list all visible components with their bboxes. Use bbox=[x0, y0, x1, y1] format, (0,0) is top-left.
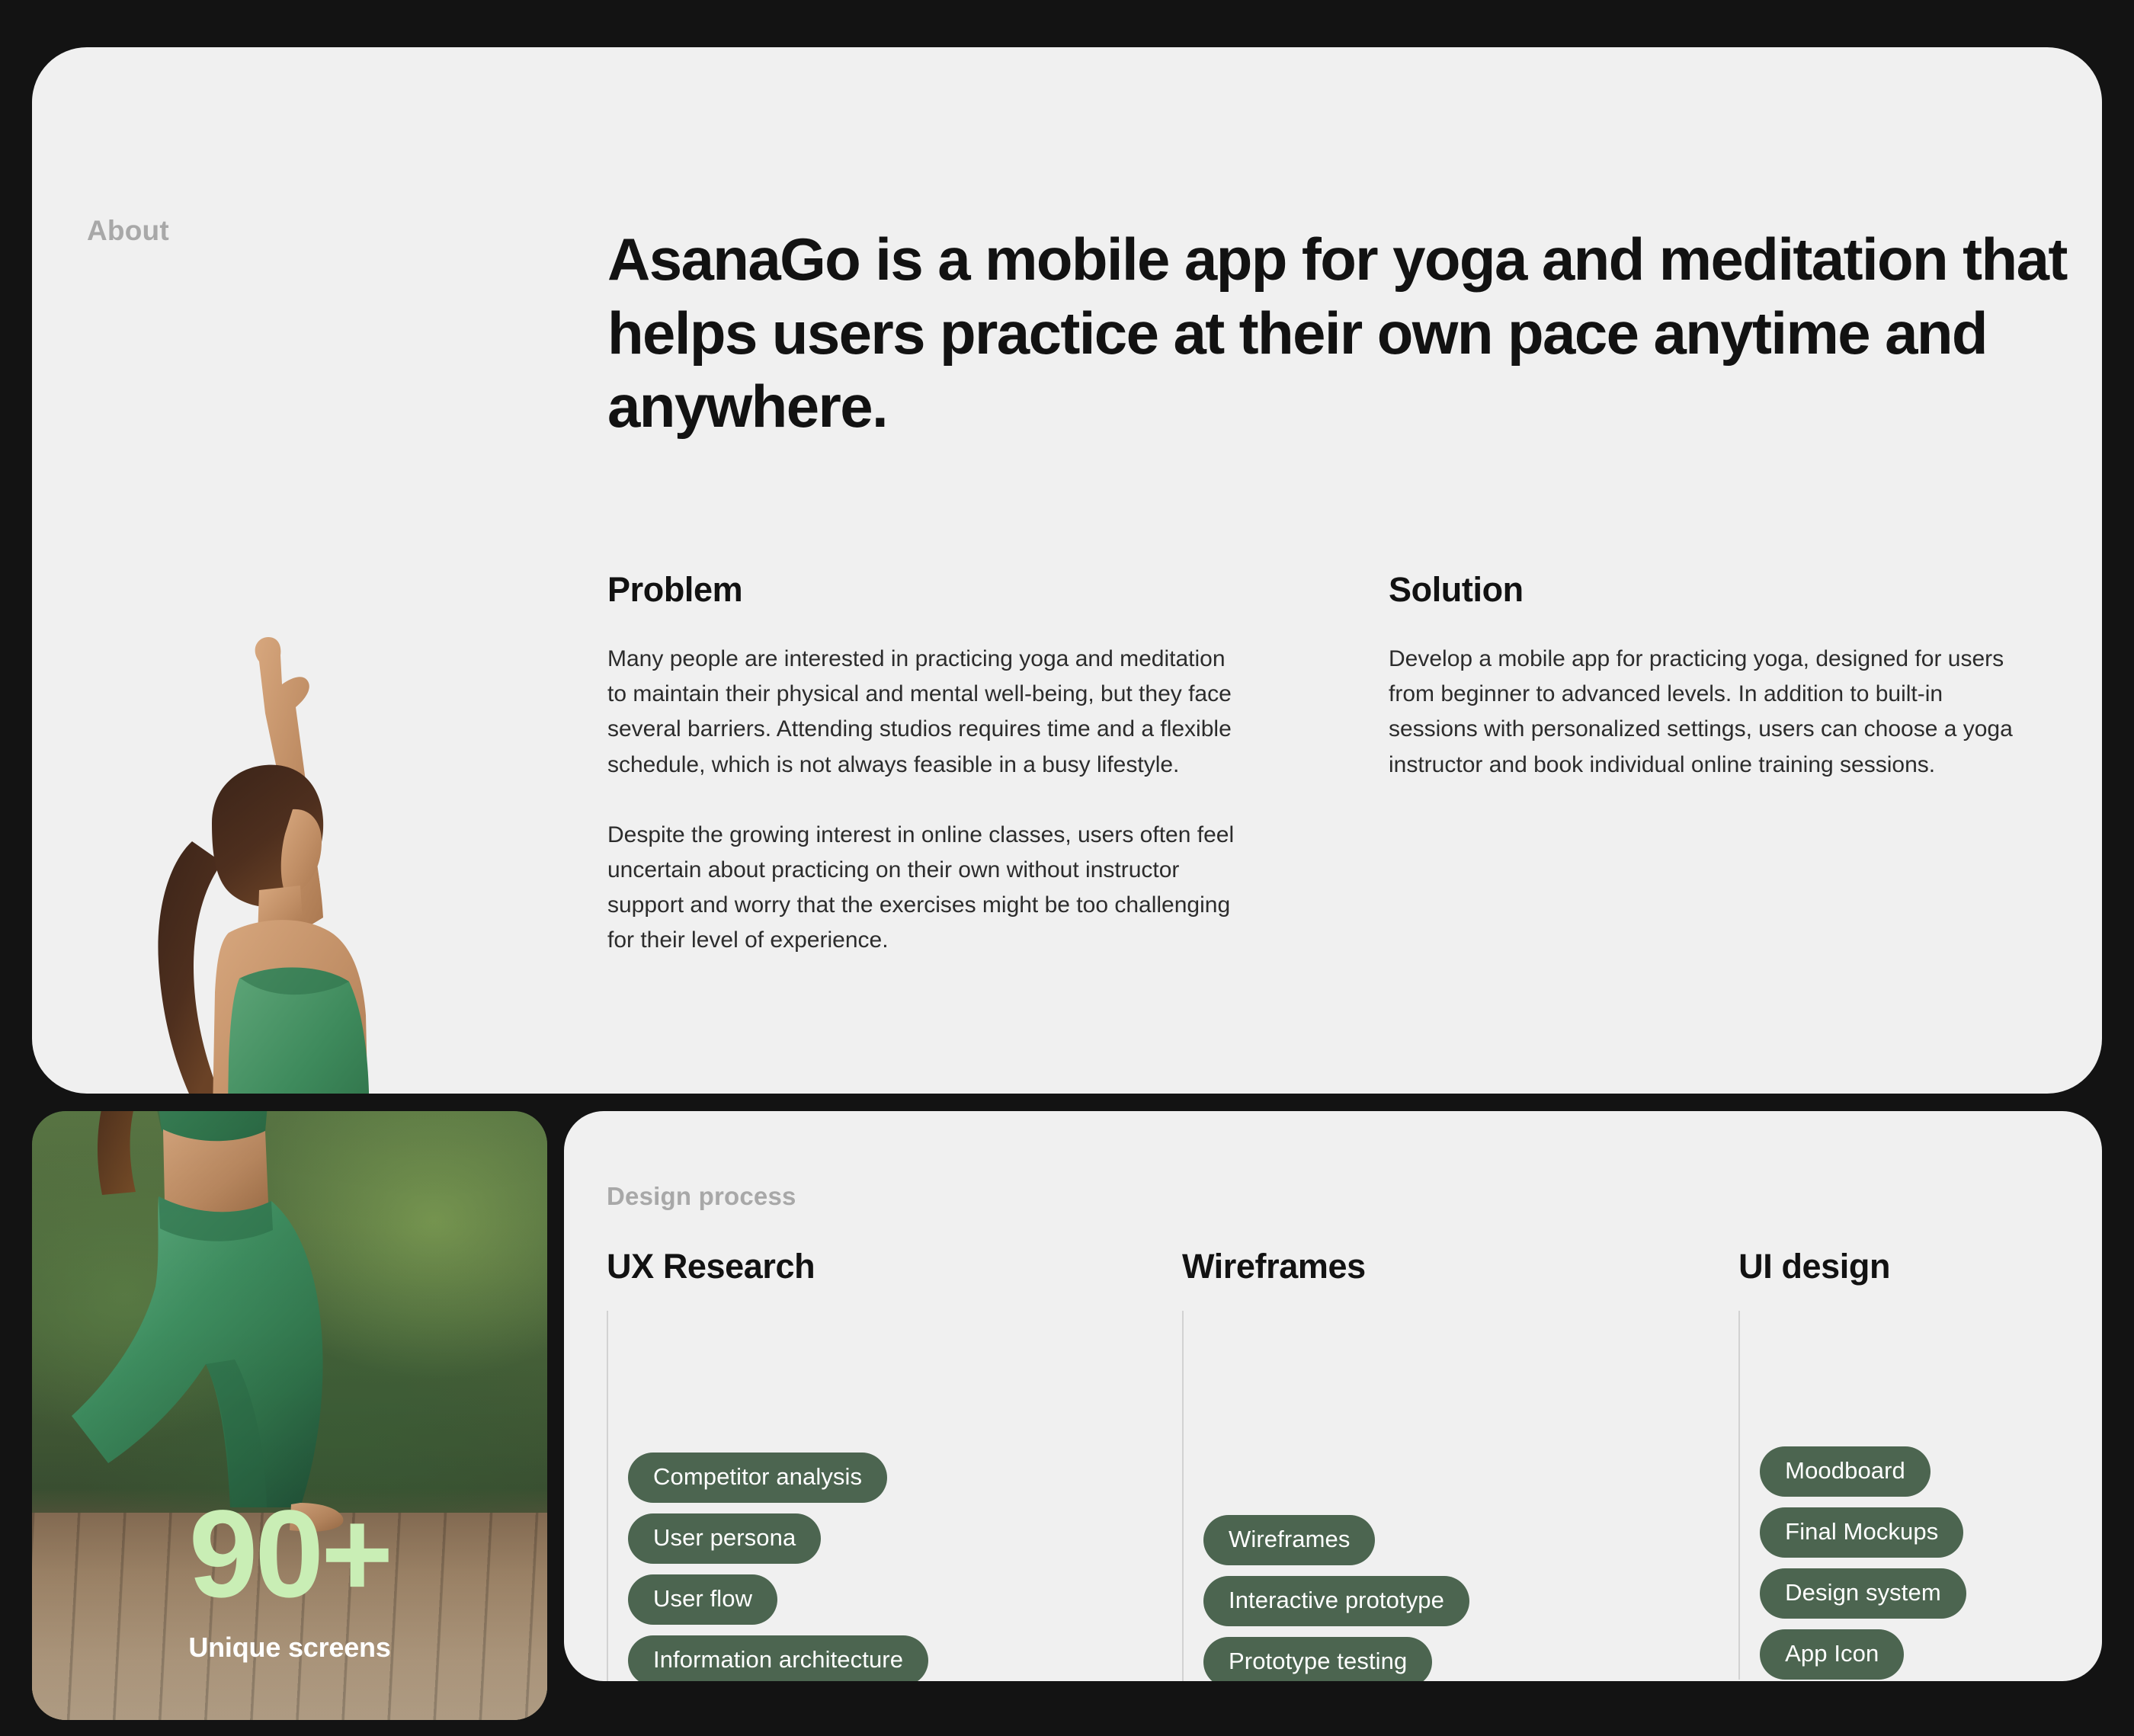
design-process-card: Design process UX Research Competitor an… bbox=[564, 1111, 2102, 1681]
ui-design-title: UI design bbox=[1738, 1247, 2102, 1286]
problem-column: Problem Many people are interested in pr… bbox=[607, 570, 1389, 959]
tag-app-icon[interactable]: App Icon bbox=[1760, 1629, 1904, 1680]
design-process-columns: UX Research Competitor analysis User per… bbox=[607, 1247, 2102, 1681]
unique-screens-photo-card: 90+ Unique screens bbox=[32, 1111, 547, 1720]
ui-design-column: UI design Moodboard Final Mockups Design… bbox=[1738, 1247, 2102, 1681]
solution-title: Solution bbox=[1389, 570, 2090, 610]
ux-research-column: UX Research Competitor analysis User per… bbox=[607, 1247, 1182, 1681]
ui-design-tag-list: Moodboard Final Mockups Design system Ap… bbox=[1760, 1446, 2102, 1680]
tag-wireframes[interactable]: Wireframes bbox=[1203, 1515, 1375, 1565]
unique-screens-count: 90+ bbox=[32, 1495, 547, 1613]
stat-block: 90+ Unique screens bbox=[32, 1495, 547, 1664]
tag-design-system[interactable]: Design system bbox=[1760, 1568, 1966, 1619]
about-columns: Problem Many people are interested in pr… bbox=[607, 570, 2090, 959]
design-process-label: Design process bbox=[607, 1182, 796, 1211]
about-section-label: About bbox=[87, 215, 169, 247]
problem-paragraph-2: Despite the growing interest in online c… bbox=[607, 818, 1244, 959]
wireframes-title: Wireframes bbox=[1182, 1247, 1738, 1286]
ux-research-divider: Competitor analysis User persona User fl… bbox=[607, 1311, 1182, 1681]
tag-competitor-analysis[interactable]: Competitor analysis bbox=[628, 1453, 887, 1503]
tag-information-architecture[interactable]: Information architecture bbox=[628, 1635, 928, 1681]
about-card: About AsanaGo is a mobile app for yoga a… bbox=[32, 47, 2102, 1094]
tag-final-mockups[interactable]: Final Mockups bbox=[1760, 1507, 1963, 1558]
wireframes-divider: Wireframes Interactive prototype Prototy… bbox=[1182, 1311, 1738, 1681]
problem-title: Problem bbox=[607, 570, 1389, 610]
tag-interactive-prototype[interactable]: Interactive prototype bbox=[1203, 1576, 1469, 1626]
ux-research-tag-list: Competitor analysis User persona User fl… bbox=[628, 1453, 1182, 1681]
unique-screens-caption: Unique screens bbox=[32, 1632, 547, 1664]
problem-paragraph-1: Many people are interested in practicing… bbox=[607, 642, 1244, 783]
wireframes-column: Wireframes Wireframes Interactive protot… bbox=[1182, 1247, 1738, 1681]
ui-design-divider: Moodboard Final Mockups Design system Ap… bbox=[1738, 1311, 2102, 1680]
wireframes-tag-list: Wireframes Interactive prototype Prototy… bbox=[1203, 1515, 1738, 1681]
about-headline: AsanaGo is a mobile app for yoga and med… bbox=[607, 223, 2090, 444]
solution-paragraph-1: Develop a mobile app for practicing yoga… bbox=[1389, 642, 2025, 783]
yoga-figure-cutout-image bbox=[78, 634, 505, 1094]
tag-user-flow[interactable]: User flow bbox=[628, 1574, 777, 1625]
tag-user-persona[interactable]: User persona bbox=[628, 1513, 821, 1564]
tag-prototype-testing[interactable]: Prototype testing bbox=[1203, 1637, 1432, 1681]
tag-moodboard[interactable]: Moodboard bbox=[1760, 1446, 1931, 1497]
solution-column: Solution Develop a mobile app for practi… bbox=[1389, 570, 2090, 959]
ux-research-title: UX Research bbox=[607, 1247, 1182, 1286]
